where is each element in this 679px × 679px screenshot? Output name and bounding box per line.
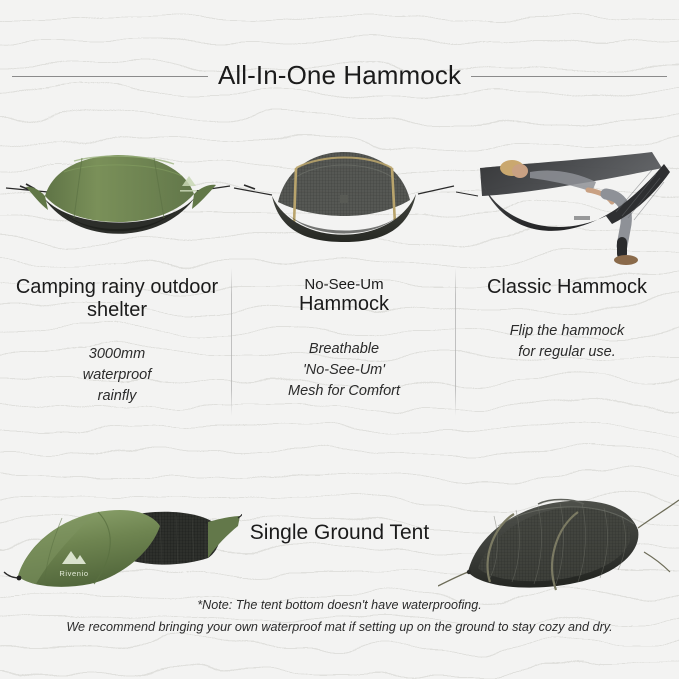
feature-subtext-line3: Mesh for Comfort bbox=[234, 381, 454, 402]
page-title-row: All-In-One Hammock bbox=[0, 55, 679, 95]
person-face bbox=[512, 164, 528, 178]
feature-subtext-line3: rainfly bbox=[6, 386, 228, 407]
feature-subtext-line1: Breathable bbox=[234, 339, 454, 360]
title-rule-left bbox=[12, 76, 208, 77]
feature-subtext-line2: for regular use. bbox=[458, 342, 676, 363]
guyline-left bbox=[438, 572, 468, 586]
guyline-right-lower bbox=[644, 552, 670, 572]
product-image-no-see-um-hammock bbox=[232, 138, 456, 268]
feature-heading-line1: Classic bbox=[487, 276, 551, 298]
bottom-section-title: Single Ground Tent bbox=[0, 521, 679, 545]
column-divider-1 bbox=[231, 268, 232, 416]
product-image-classic-hammock bbox=[456, 138, 679, 268]
feature-heading: Camping rainy outdoor shelter bbox=[6, 276, 228, 322]
feature-column-camping-rainy-outdoor-shelter: Camping rainy outdoor shelter 3000mm wat… bbox=[6, 276, 228, 407]
strap-right bbox=[418, 186, 454, 194]
brand-logo-text: Rivenio bbox=[59, 569, 88, 578]
column-divider-2 bbox=[455, 268, 456, 416]
guyline-right bbox=[238, 514, 242, 518]
feature-subtext-line1: Flip the hammock bbox=[458, 321, 676, 342]
hammock-label-patch bbox=[574, 216, 590, 220]
footnote: *Note: The tent bottom doesn't have wate… bbox=[0, 594, 679, 638]
strap-left bbox=[456, 192, 478, 196]
feature-heading-line1: Camping rainy bbox=[16, 276, 145, 298]
feature-heading-line1: No-See-Um bbox=[234, 276, 454, 293]
title-rule-right bbox=[471, 76, 667, 77]
feature-heading-line2: Hammock bbox=[557, 276, 647, 298]
product-image-green-rainfly-hammock bbox=[4, 138, 232, 268]
footnote-line2: We recommend bringing your own waterproo… bbox=[0, 616, 679, 638]
feature-subtext-line2: waterproof bbox=[6, 365, 228, 386]
page-title: All-In-One Hammock bbox=[214, 60, 465, 91]
rainfly-right-wing bbox=[192, 185, 216, 209]
feature-heading: Classic Hammock bbox=[458, 276, 676, 299]
feature-subtext: 3000mm waterproof rainfly bbox=[6, 344, 228, 407]
feature-subtext: Flip the hammock for regular use. bbox=[458, 321, 676, 363]
feature-subtext-line1: 3000mm bbox=[6, 344, 228, 365]
feature-heading-line2: Hammock bbox=[234, 293, 454, 316]
hammock-tag bbox=[340, 195, 348, 203]
feature-subtext: Breathable 'No-See-Um' Mesh for Comfort bbox=[234, 339, 454, 402]
rainfly-left-wing bbox=[26, 187, 48, 210]
feature-column-no-see-um-hammock: No-See-Um Hammock Breathable 'No-See-Um'… bbox=[234, 276, 454, 402]
feature-heading: No-See-Um Hammock bbox=[234, 276, 454, 317]
person-sandal bbox=[614, 255, 638, 265]
mesh-canopy bbox=[278, 152, 410, 216]
product-image-row bbox=[0, 138, 679, 268]
footnote-line1: *Note: The tent bottom doesn't have wate… bbox=[0, 594, 679, 616]
feature-subtext-line2: 'No-See-Um' bbox=[234, 360, 454, 381]
feature-column-classic-hammock: Classic Hammock Flip the hammock for reg… bbox=[458, 276, 676, 363]
infographic-page: All-In-One Hammock bbox=[0, 0, 679, 679]
